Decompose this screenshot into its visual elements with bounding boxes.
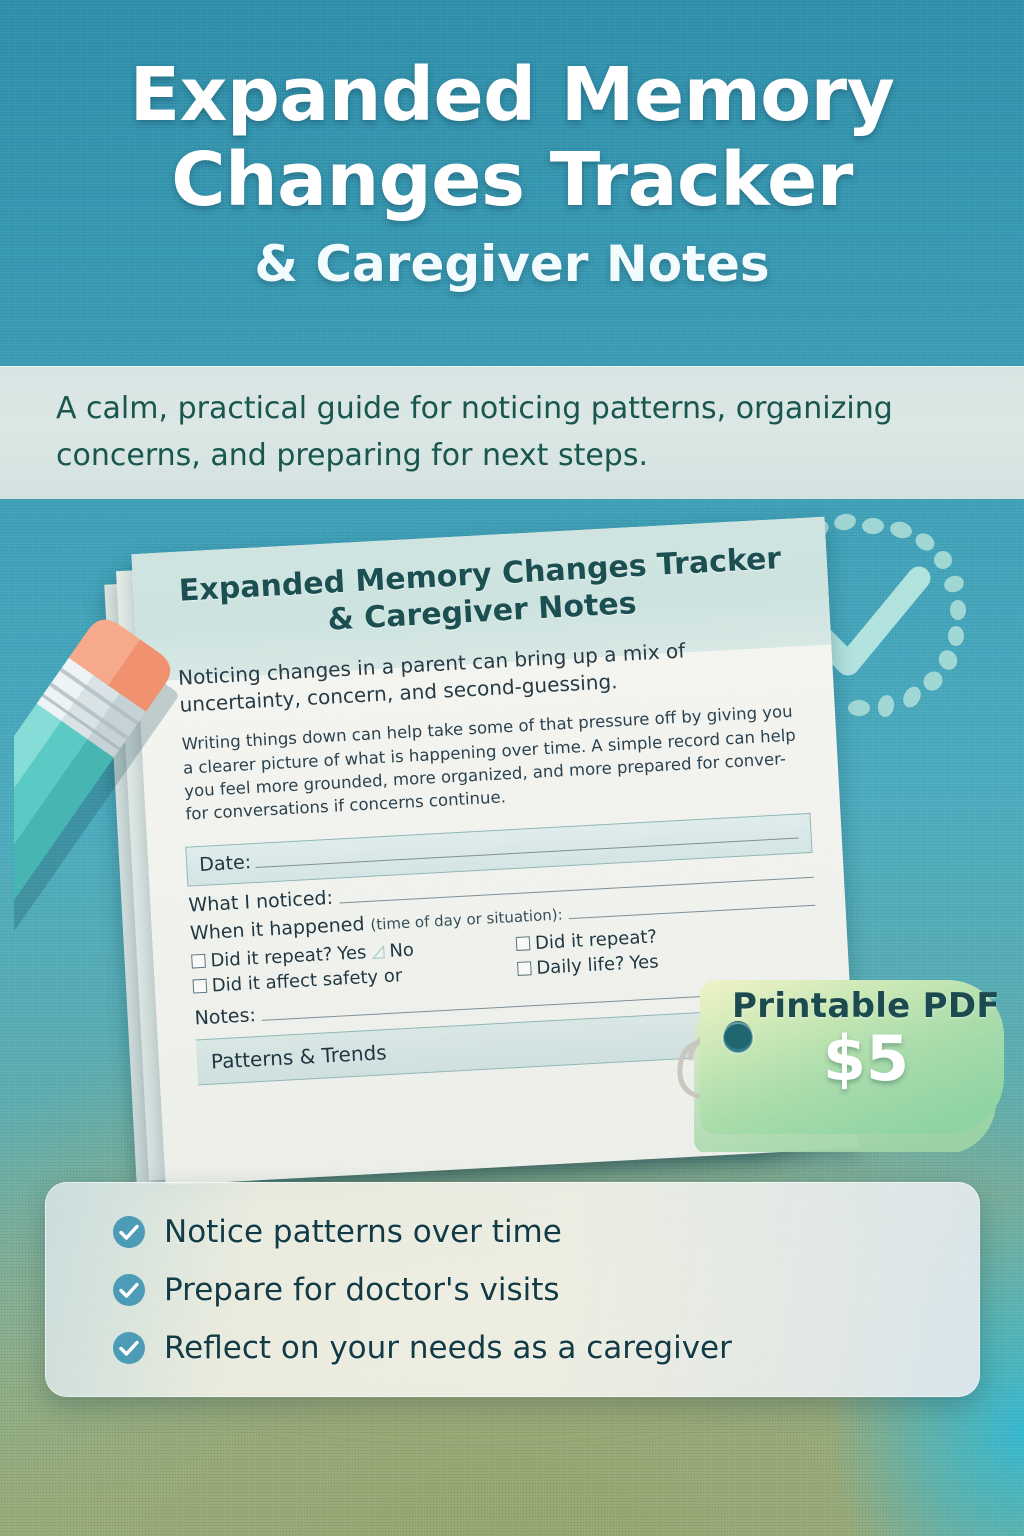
checkbox-label: Did it repeat? <box>534 926 657 954</box>
benefit-label: Notice patterns over time <box>164 1214 562 1250</box>
hero-title-band: Expanded Memory Changes Tracker & Caregi… <box>0 0 1024 366</box>
subtitle-text: A calm, practical guide for noticing pat… <box>0 386 1024 479</box>
checkbox-no-label: No <box>389 939 415 961</box>
checkbox-label: Daily life? <box>536 953 625 979</box>
hero-title-line2: Changes Tracker <box>171 143 853 218</box>
checkbox-repeat-right[interactable] <box>516 937 531 952</box>
checkbox-yes-label: Yes <box>629 951 659 974</box>
benefits-panel: Notice patterns over time Prepare for do… <box>45 1182 980 1397</box>
hero-title-line1: Expanded Memory <box>130 58 895 133</box>
pencil-icon <box>14 610 344 1070</box>
check-circle-icon <box>112 1215 146 1249</box>
checkbox-daily-life[interactable] <box>517 962 532 977</box>
check-circle-icon <box>112 1273 146 1307</box>
benefit-item-3: Reflect on your needs as a caregiver <box>112 1330 979 1366</box>
hero-title-line3: & Caregiver Notes <box>254 235 769 293</box>
benefit-item-2: Prepare for doctor's visits <box>112 1272 979 1308</box>
price-tag[interactable]: Printable PDF $5 <box>672 972 1024 1152</box>
when-happened-input-rule[interactable] <box>568 892 815 919</box>
benefit-label: Prepare for doctor's visits <box>164 1272 560 1308</box>
when-happened-hint: (time of day or situation): <box>370 905 563 933</box>
subtitle-band: A calm, practical guide for noticing pat… <box>0 366 1024 499</box>
tick-icon: ◿ <box>371 942 385 963</box>
benefit-item-1: Notice patterns over time <box>112 1214 979 1250</box>
check-circle-icon <box>112 1331 146 1365</box>
benefit-label: Reflect on your needs as a caregiver <box>164 1330 732 1366</box>
